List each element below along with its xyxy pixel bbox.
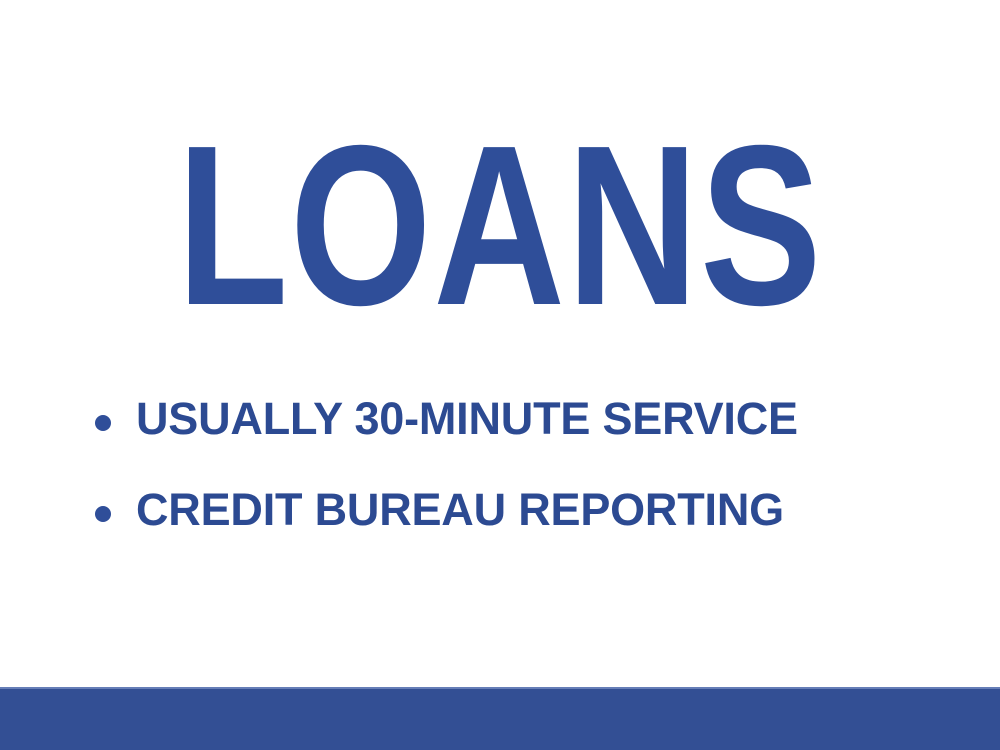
list-item-label: USUALLY 30-MINUTE SERVICE [136,396,966,441]
bullet-list: USUALLY 30-MINUTE SERVICE CREDIT BUREAU … [86,396,966,532]
list-item: CREDIT BUREAU REPORTING [86,487,966,532]
bullet-dot-icon [95,506,111,522]
slide-title-text: LOANS [177,126,823,326]
footer-accent-bar-highlight [0,687,1000,689]
bullet-dot-icon [95,415,111,431]
presentation-slide: LOANS USUALLY 30-MINUTE SERVICE CREDIT B… [0,0,1000,750]
list-item: USUALLY 30-MINUTE SERVICE [86,396,966,441]
page-title: LOANS [0,126,1000,326]
footer-accent-bar [0,687,1000,750]
list-item-label: CREDIT BUREAU REPORTING [136,487,966,532]
